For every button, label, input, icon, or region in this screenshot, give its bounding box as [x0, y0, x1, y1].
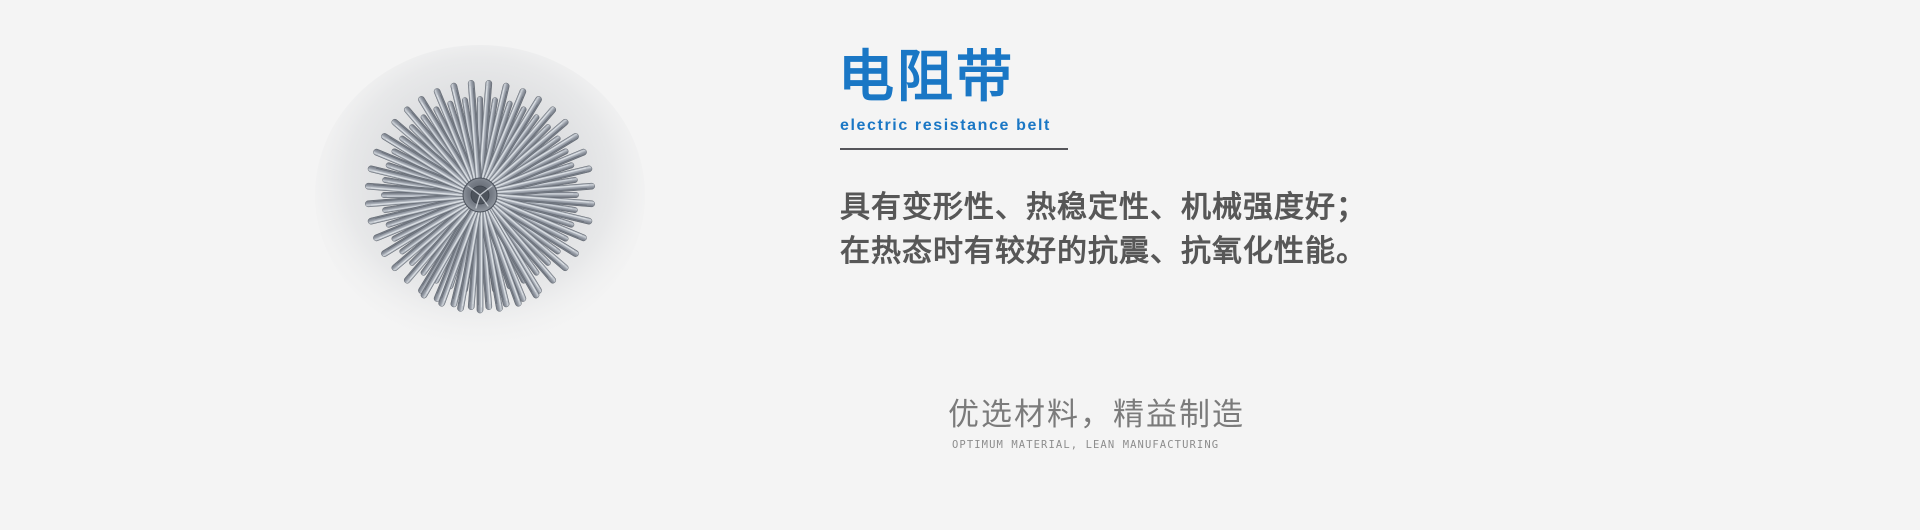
tagline-english: OPTIMUM MATERIAL, LEAN MANUFACTURING: [952, 438, 1508, 452]
description-line-2: 在热态时有较好的抗震、抗氧化性能。: [840, 230, 1600, 274]
heading-divider: [840, 148, 1068, 150]
description-block: 具有变形性、热稳定性、机械强度好； 在热态时有较好的抗震、抗氧化性能。: [840, 186, 1600, 274]
heading-block: 电阻带 electric resistance belt: [838, 46, 1458, 136]
tagline-chinese: 优选材料，精益制造: [948, 395, 1508, 435]
page-subtitle: electric resistance belt: [840, 116, 1458, 136]
burst-graphic: [300, 40, 660, 380]
page-title: 电阻带: [838, 46, 1458, 108]
tagline-block: 优选材料，精益制造 OPTIMUM MATERIAL, LEAN MANUFAC…: [948, 395, 1508, 452]
product-banner: 电阻带 electric resistance belt 具有变形性、热稳定性、…: [0, 0, 1920, 530]
description-line-1: 具有变形性、热稳定性、机械强度好；: [840, 186, 1600, 230]
resistance-belt-burst-icon: [300, 40, 660, 380]
product-image: [300, 40, 660, 380]
text-content: 电阻带 electric resistance belt 具有变形性、热稳定性、…: [838, 0, 1838, 530]
